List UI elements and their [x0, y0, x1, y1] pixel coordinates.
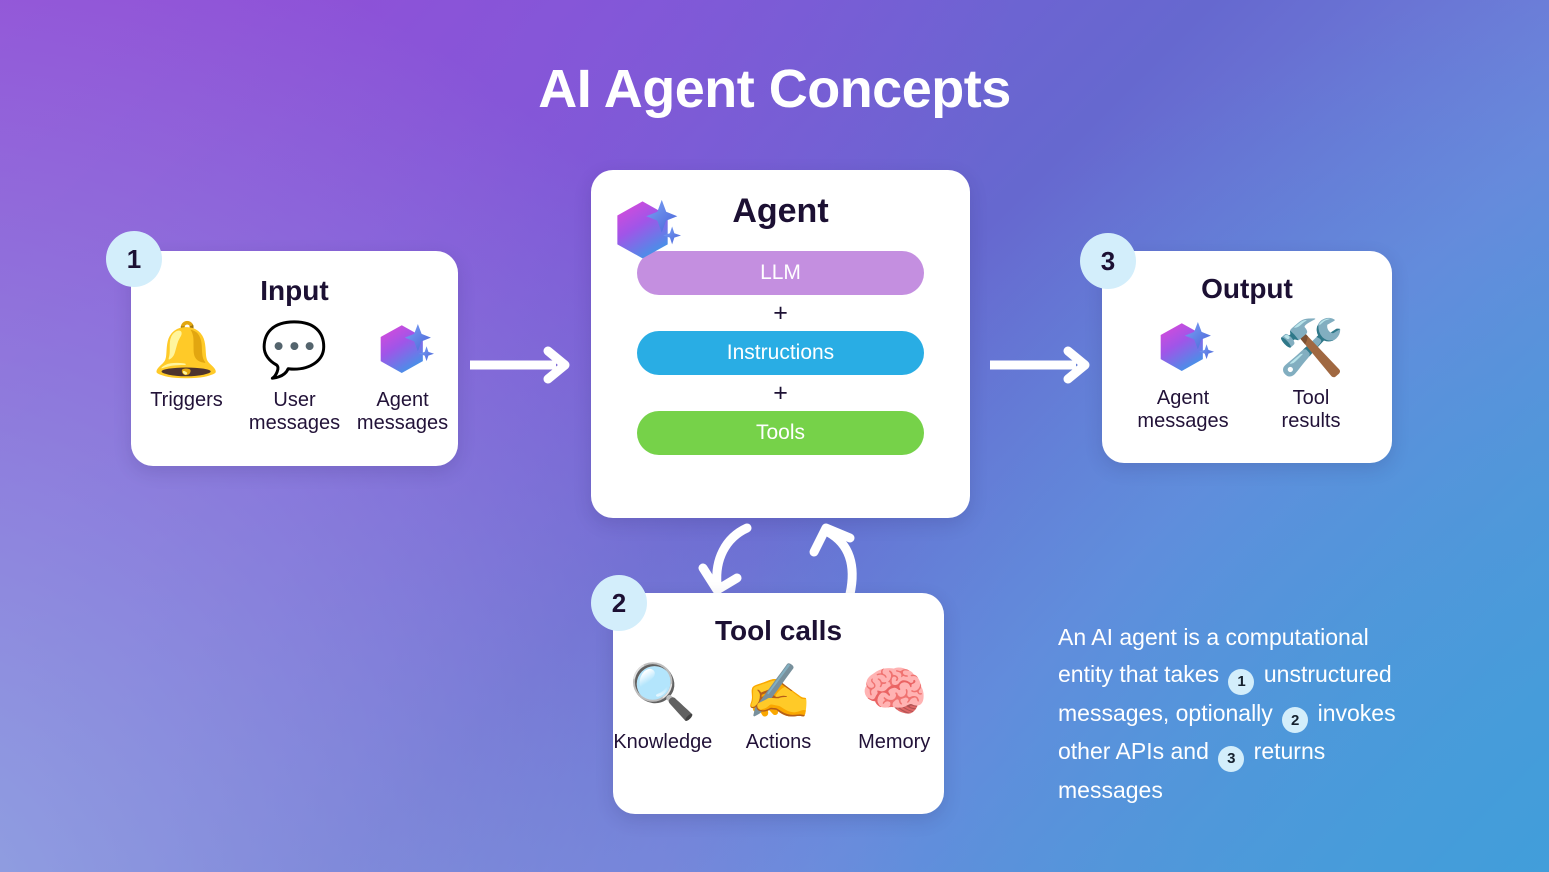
agent-hexagon-sparkle-icon [1152, 317, 1214, 379]
agent-pill-tools[interactable]: Tools [637, 411, 924, 455]
step-badge-2: 2 [591, 575, 647, 631]
input-item-label: Triggers [150, 389, 223, 412]
page-title: AI Agent Concepts [0, 58, 1549, 120]
step-badge-3: 3 [1080, 233, 1136, 289]
inline-step-badge-3: 3 [1218, 746, 1244, 772]
output-item-agent-messages: Agentmessages [1137, 317, 1229, 433]
tool-calls-items: 🔍 Knowledge ✍️ Actions 🧠 Memory [613, 661, 944, 754]
tool-calls-card-title: Tool calls [613, 615, 944, 647]
magnifier-icon: 🔍 [629, 661, 696, 723]
tool-calls-item-label: Memory [858, 731, 930, 754]
agent-hexagon-sparkle-icon [607, 194, 681, 268]
arrow-right-icon [468, 345, 574, 385]
arrow-input-to-agent [468, 345, 574, 390]
agent-card: Agent LLM + Instructions + Tools [591, 170, 970, 518]
output-items: Agentmessages 🛠️ Toolresults [1102, 317, 1392, 433]
agent-pill-instructions[interactable]: Instructions [637, 331, 924, 375]
tool-calls-item-memory: 🧠 Memory [844, 661, 944, 754]
hammer-and-wrench-icon: 🛠️ [1277, 317, 1344, 379]
input-items: 🔔 Triggers 💬 Usermessages [131, 319, 458, 435]
agent-card-header: Agent [591, 192, 970, 231]
agent-card-title: Agent [732, 192, 828, 231]
output-item-tool-results: 🛠️ Toolresults [1265, 317, 1357, 433]
arrow-right-icon [988, 345, 1094, 385]
input-item-agent-messages: Agentmessages [363, 319, 443, 435]
input-item-label: Usermessages [249, 389, 340, 435]
tool-calls-card: 2 Tool calls 🔍 Knowledge ✍️ Actions 🧠 Me… [613, 593, 944, 814]
brain-icon: 🧠 [861, 661, 928, 723]
output-item-label: Agentmessages [1137, 387, 1228, 433]
input-card: 1 Input 🔔 Triggers 💬 Usermessages [131, 251, 458, 466]
writing-hand-icon: ✍️ [745, 661, 812, 723]
agent-composition: LLM + Instructions + Tools [591, 251, 970, 455]
output-card-title: Output [1102, 273, 1392, 305]
input-item-user-messages: 💬 Usermessages [255, 319, 335, 435]
tool-calls-item-knowledge: 🔍 Knowledge [613, 661, 713, 754]
inline-step-badge-2: 2 [1282, 707, 1308, 733]
tool-calls-item-label: Knowledge [613, 731, 712, 754]
diagram-canvas: AI Agent Concepts 1 Input 🔔 Triggers 💬 U… [0, 0, 1549, 872]
speech-bubble-icon: 💬 [261, 319, 328, 381]
output-item-label: Toolresults [1282, 387, 1341, 433]
agent-hexagon-sparkle-icon-svg [372, 319, 434, 381]
plus-separator: + [637, 375, 924, 411]
curved-arrow-up-icon [806, 522, 876, 602]
input-card-title: Input [131, 275, 458, 307]
inline-step-badge-1: 1 [1228, 669, 1254, 695]
agent-hexagon-sparkle-icon [372, 319, 434, 381]
agent-hexagon-sparkle-icon-svg [607, 194, 681, 268]
curved-arrow-down-icon [697, 522, 767, 602]
agent-hexagon-sparkle-icon-svg [1152, 317, 1214, 379]
input-item-label: Agentmessages [357, 389, 448, 435]
description-caption: An AI agent is a computational entity th… [1058, 619, 1430, 809]
plus-separator: + [637, 295, 924, 331]
bell-icon: 🔔 [153, 319, 220, 381]
tool-calls-item-actions: ✍️ Actions [729, 661, 829, 754]
step-badge-1: 1 [106, 231, 162, 287]
output-card: 3 Output [1102, 251, 1392, 463]
arrow-agent-to-output [988, 345, 1094, 390]
input-item-triggers: 🔔 Triggers [147, 319, 227, 412]
tool-calls-item-label: Actions [746, 731, 812, 754]
